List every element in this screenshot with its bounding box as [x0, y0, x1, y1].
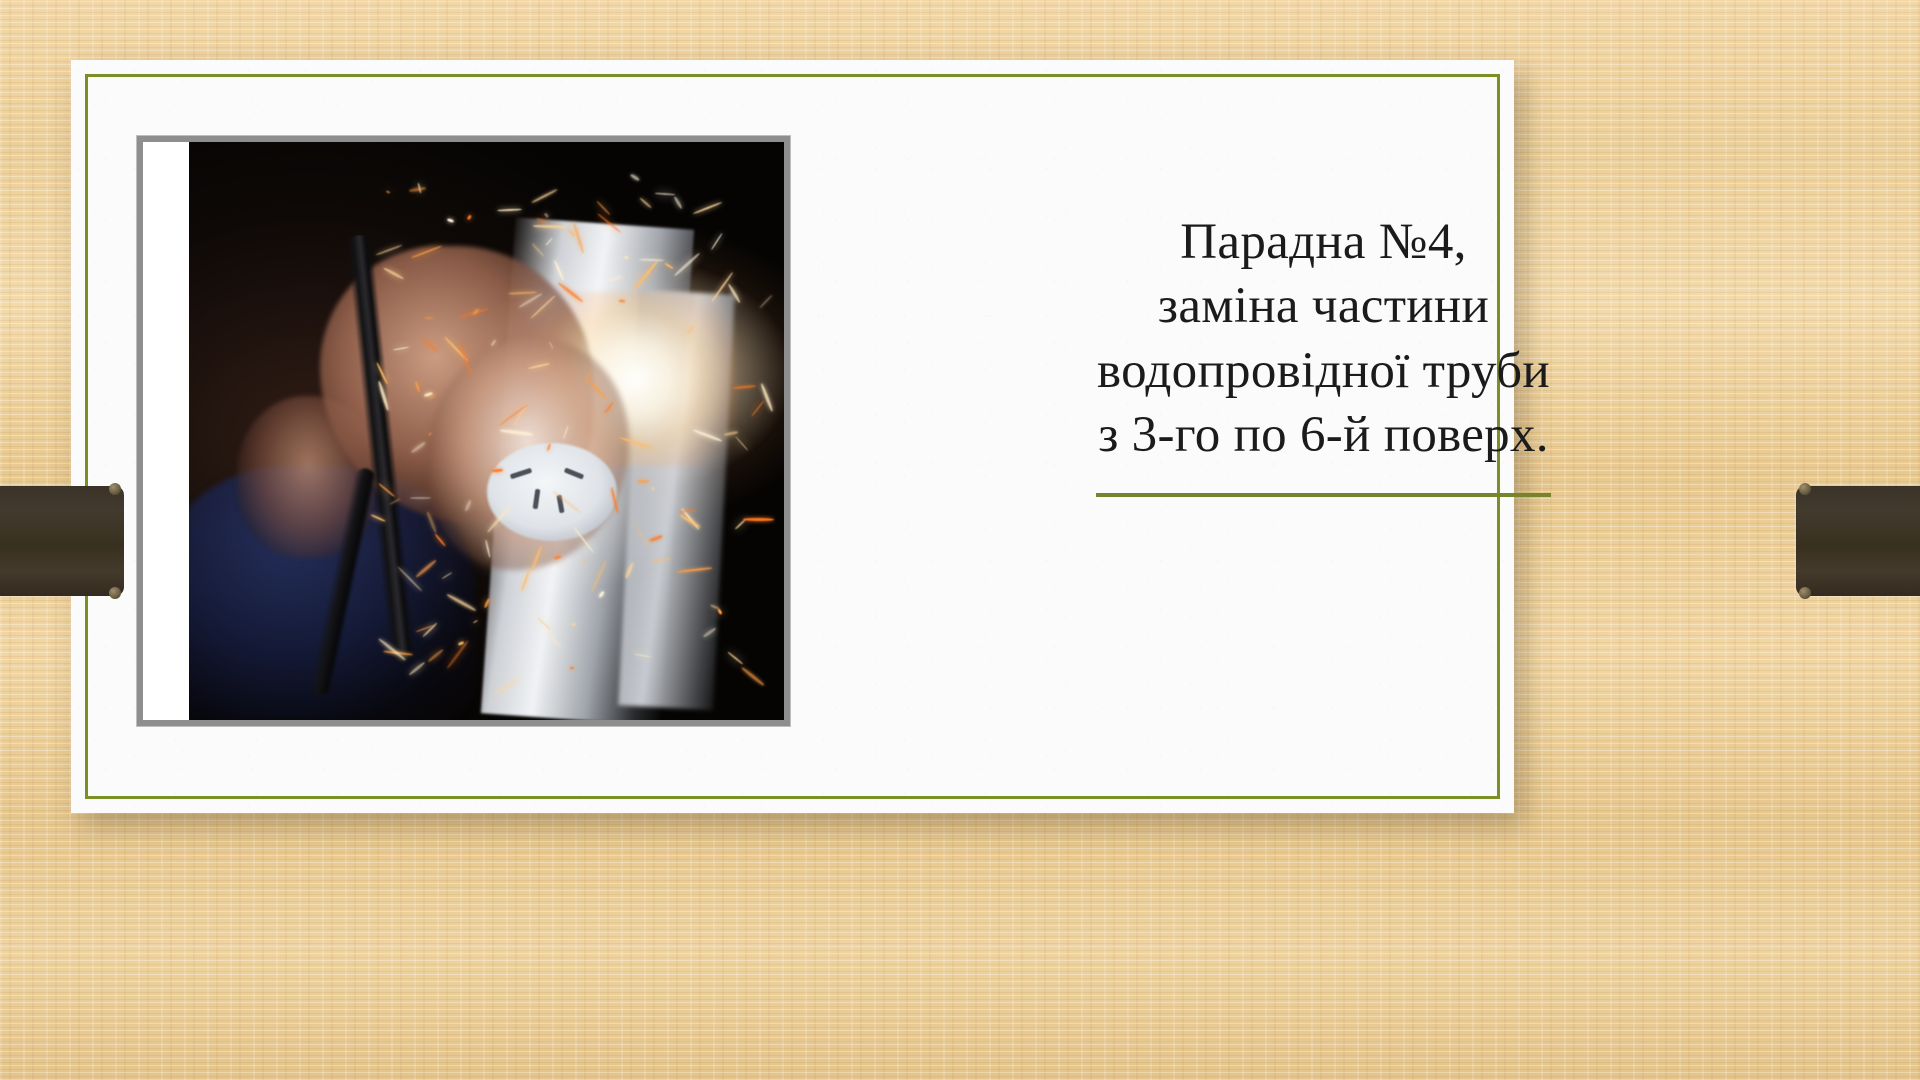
title-block: Парадна №4, заміна частини водопровідної…	[1096, 210, 1551, 497]
rivet-icon	[109, 483, 121, 495]
left-strap-decoration	[0, 486, 124, 596]
page-title: Парадна №4, заміна частини водопровідної…	[1096, 210, 1551, 467]
rivet-icon	[1799, 483, 1811, 495]
slide-card: Парадна №4, заміна частини водопровідної…	[71, 60, 1514, 813]
welder-photo	[189, 142, 784, 720]
photo-mat-left-margin	[143, 142, 189, 720]
photo-frame	[137, 136, 790, 726]
photo-mat	[143, 142, 784, 720]
right-strap-decoration	[1796, 486, 1920, 596]
rivet-icon	[1799, 587, 1811, 599]
presentation-slide: Парадна №4, заміна частини водопровідної…	[0, 0, 1920, 1080]
title-divider-rule	[1096, 493, 1551, 497]
rivet-icon	[109, 587, 121, 599]
